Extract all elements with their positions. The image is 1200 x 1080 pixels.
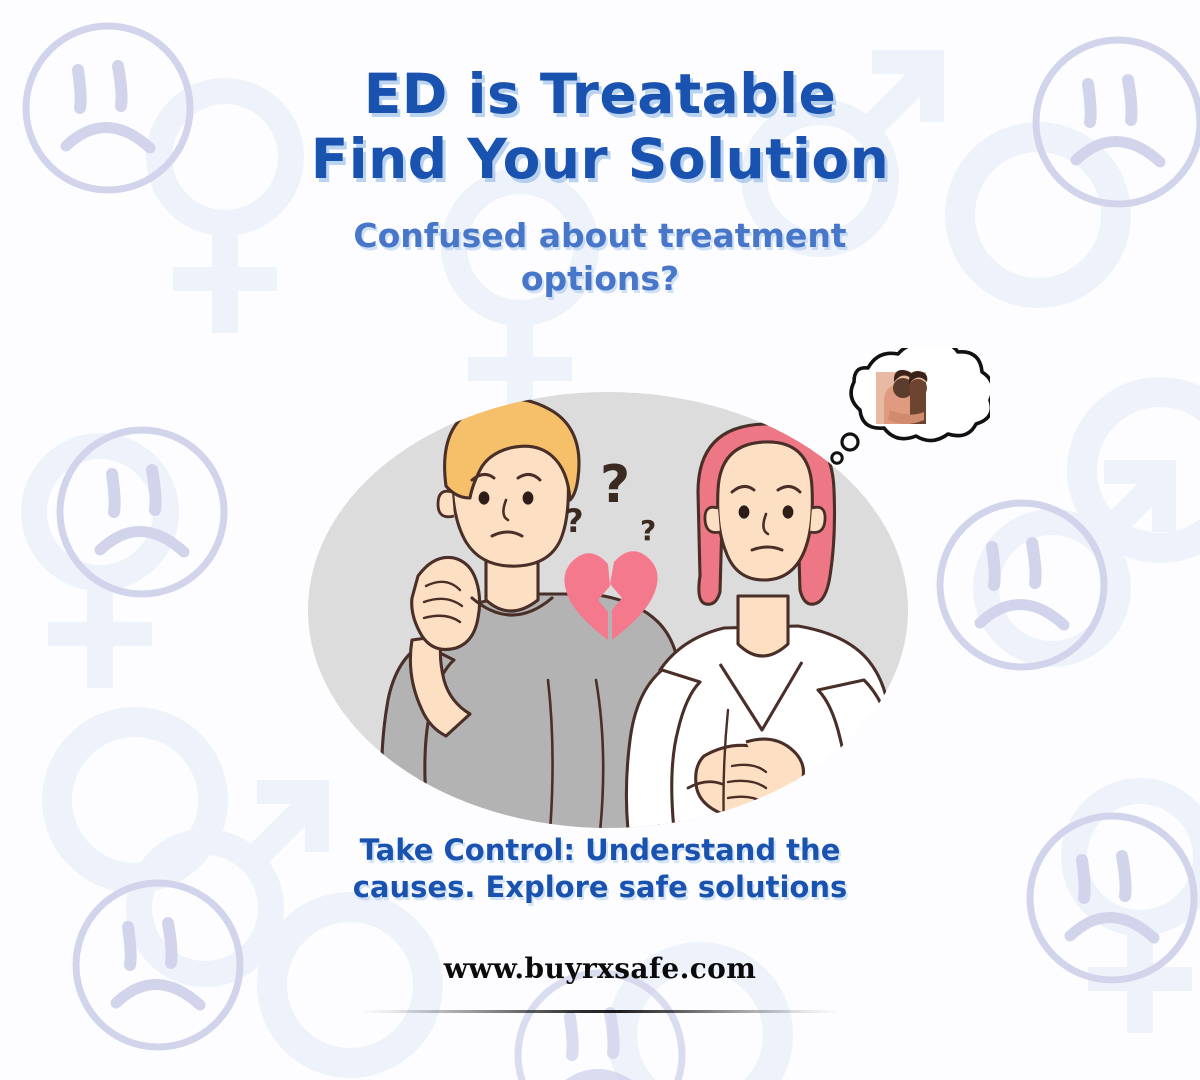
female-gender-symbol	[34, 446, 166, 688]
thought-bubble-couple-embracing	[810, 348, 990, 473]
couple-embracing-thumb	[876, 370, 927, 424]
page-subtitle: Confused about treatment options?	[0, 192, 1200, 301]
subtitle-line-2: options?	[0, 257, 1200, 301]
man-eye-right	[523, 491, 534, 504]
sad-face-doodle	[60, 430, 224, 594]
cta-line-2: causes. Explore safe solutions	[0, 869, 1200, 906]
title-line-2: Find Your Solution	[0, 127, 1200, 192]
subtitle-line-1: Confused about treatment	[353, 216, 846, 255]
cta-line-1: Take Control: Understand the	[360, 833, 841, 867]
ring-motif	[272, 907, 428, 1063]
female-gender-symbol	[1074, 791, 1200, 1033]
page-title: ED is Treatable Find Your Solution	[0, 0, 1200, 192]
title-line-1: ED is Treatable	[364, 62, 837, 126]
woman-clasped-hands	[696, 739, 804, 820]
man-eye-left	[479, 491, 490, 504]
sad-face-doodle	[518, 973, 682, 1080]
woman-face	[718, 442, 813, 580]
thought-tail-small	[832, 453, 842, 463]
woman-eye-right	[783, 505, 794, 518]
man-hand	[412, 557, 480, 649]
question-mark-small-right: ?	[640, 514, 656, 547]
male-gender-symbol	[986, 472, 1164, 654]
website-url[interactable]: www.buyrxsafe.com	[0, 952, 1200, 985]
thought-tail-large	[842, 434, 858, 450]
headline-block: ED is Treatable Find Your Solution Confu…	[0, 0, 1200, 301]
question-mark-large: ?	[600, 455, 630, 515]
sad-face-doodle	[940, 503, 1104, 667]
question-mark-small-left: ?	[565, 502, 584, 540]
woman-eye-left	[739, 505, 750, 518]
footer-divider	[360, 1010, 840, 1013]
poster-canvas: ED is Treatable Find Your Solution Confu…	[0, 0, 1200, 1080]
call-to-action-text: Take Control: Understand the causes. Exp…	[0, 832, 1200, 906]
ring-motif	[1082, 392, 1200, 548]
woman-neck	[738, 596, 788, 656]
